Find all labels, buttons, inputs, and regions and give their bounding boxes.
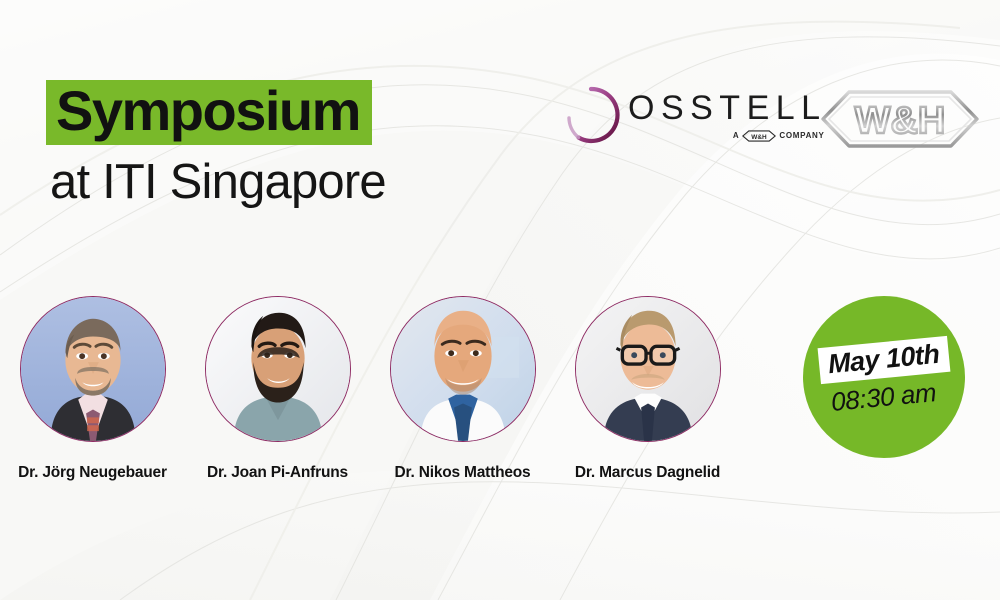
osstell-logo: OSSTELL A W&H COMPANY [560, 84, 827, 146]
page-subtitle: at ITI Singapore [46, 157, 386, 208]
tagline-prefix: A [733, 132, 739, 140]
avatar [390, 296, 536, 442]
tagline-wh-badge-icon: W&H [742, 130, 776, 142]
portrait-nikos-mattheos [391, 297, 535, 441]
osstell-ring-icon [560, 84, 622, 146]
svg-text:W&H: W&H [855, 100, 946, 142]
event-banner: Symposium at ITI Singapore OSSTELL A W&H [0, 0, 1000, 600]
headline-block: Symposium at ITI Singapore [46, 80, 386, 209]
speaker-card: Dr. Jörg Neugebauer [0, 296, 185, 482]
speaker-name: Dr. Joan Pi-Anfruns [207, 464, 348, 482]
page-title: Symposium [46, 80, 372, 145]
avatar [20, 296, 166, 442]
speaker-name: Dr. Marcus Dagnelid [575, 464, 720, 482]
osstell-wordmark: OSSTELL [628, 91, 827, 125]
osstell-tagline: A W&H COMPANY [628, 130, 827, 142]
portrait-joan-pi-anfruns [206, 297, 350, 441]
osstell-wordmark-block: OSSTELL A W&H COMPANY [628, 89, 827, 142]
event-time: 08:30 am [830, 377, 938, 418]
speaker-card: Dr. Marcus Dagnelid [555, 296, 740, 482]
date-badge: May 10th 08:30 am [803, 296, 965, 458]
speaker-card: Dr. Nikos Mattheos [370, 296, 555, 482]
portrait-marcus-dagnelid [576, 297, 720, 441]
portrait-jorg-neugebauer [21, 297, 165, 441]
avatar [205, 296, 351, 442]
speaker-card: Dr. Joan Pi-Anfruns [185, 296, 370, 482]
speaker-list: Dr. Jörg Neugebauer [0, 296, 790, 482]
speaker-name: Dr. Jörg Neugebauer [18, 464, 167, 482]
speaker-name: Dr. Nikos Mattheos [395, 464, 531, 482]
avatar [575, 296, 721, 442]
svg-text:W&H: W&H [752, 133, 768, 140]
wh-hexagon-logo-icon: W&H [818, 88, 982, 150]
